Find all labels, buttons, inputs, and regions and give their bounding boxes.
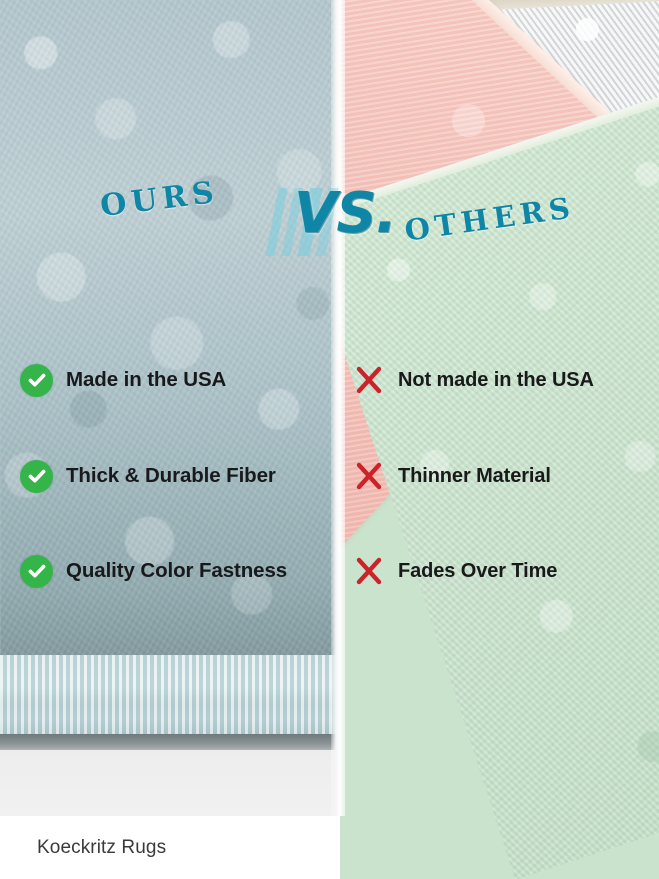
check-circle-icon xyxy=(20,364,53,397)
check-circle-icon xyxy=(20,555,53,588)
ours-feature-label: Made in the USA xyxy=(66,368,226,392)
ours-feature-label: Quality Color Fastness xyxy=(66,559,287,583)
others-feature-row: Fades Over Time xyxy=(352,554,652,588)
ours-feature-row: Thick & Durable Fiber xyxy=(20,459,330,493)
ours-feature-row: Quality Color Fastness xyxy=(20,554,330,588)
cross-icon xyxy=(352,460,385,493)
feature-rows: Made in the USA Thick & Durable Fiber Qu… xyxy=(0,0,659,816)
brand-name: Koeckritz Rugs xyxy=(37,837,166,859)
others-feature-label: Thinner Material xyxy=(398,465,551,488)
ours-feature-label: Thick & Durable Fiber xyxy=(66,464,276,488)
others-feature-row: Not made in the USA xyxy=(352,363,652,397)
comparison-infographic: OURS VS. OTHERS Made in the USA Thick & … xyxy=(0,0,659,879)
others-feature-label: Not made in the USA xyxy=(398,369,594,392)
cross-icon xyxy=(352,364,385,397)
footer-bar: Koeckritz Rugs xyxy=(0,816,340,879)
ours-feature-row: Made in the USA xyxy=(20,363,330,397)
cross-icon xyxy=(352,555,385,588)
others-feature-label: Fades Over Time xyxy=(398,560,557,583)
check-circle-icon xyxy=(20,460,53,493)
others-feature-row: Thinner Material xyxy=(352,459,652,493)
